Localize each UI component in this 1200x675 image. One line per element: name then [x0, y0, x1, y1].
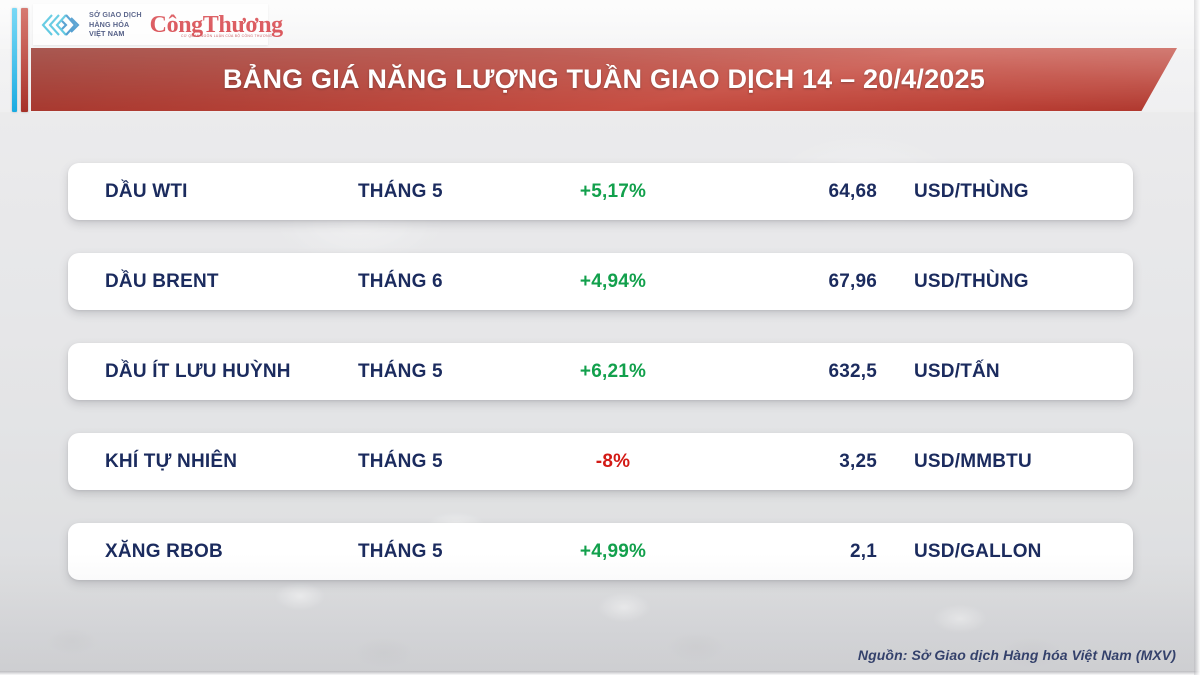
price-value: 67,96: [708, 271, 883, 293]
mxv-line-1: SỞ GIAO DỊCH: [89, 10, 142, 19]
price-unit: USD/THÙNG: [883, 271, 1133, 293]
contract-month: THÁNG 5: [358, 361, 518, 383]
price-table: DẦU WTI THÁNG 5 +5,17% 64,68 USD/THÙNG D…: [68, 163, 1133, 580]
price-change: +5,17%: [518, 181, 708, 203]
price-unit: USD/TẤN: [883, 361, 1133, 383]
price-value: 632,5: [708, 361, 883, 383]
price-unit: USD/GALLON: [883, 541, 1133, 563]
commodity-name: DẦU WTI: [68, 181, 358, 203]
right-edge: [1194, 0, 1200, 675]
table-row: DẦU BRENT THÁNG 6 +4,94% 67,96 USD/THÙNG: [68, 253, 1133, 310]
commodity-name: XĂNG RBOB: [68, 541, 358, 563]
commodity-name: KHÍ TỰ NHIÊN: [68, 451, 358, 473]
price-change: +4,94%: [518, 271, 708, 293]
accent-bar-cyan: [12, 8, 17, 112]
mxv-logo-icon: [38, 12, 84, 38]
congthuong-tagline: CƠ QUAN NGÔN LUẬN CỦA BỘ CÔNG THƯƠNG: [181, 34, 272, 38]
price-change: -8%: [518, 451, 708, 473]
page-title: BẢNG GIÁ NĂNG LƯỢNG TUẦN GIAO DỊCH 14 – …: [31, 48, 1177, 111]
price-change: +6,21%: [518, 361, 708, 383]
accent-bar-red: [21, 8, 28, 112]
price-value: 3,25: [708, 451, 883, 473]
logo-block: SỞ GIAO DỊCH HÀNG HÓA VIỆT NAM CôngThươn…: [33, 4, 268, 45]
contract-month: THÁNG 5: [358, 181, 518, 203]
price-unit: USD/THÙNG: [883, 181, 1133, 203]
table-row: XĂNG RBOB THÁNG 5 +4,99% 2,1 USD/GALLON: [68, 523, 1133, 580]
contract-month: THÁNG 5: [358, 451, 518, 473]
congthuong-logo: CôngThương: [150, 13, 283, 37]
mxv-line-2: HÀNG HÓA: [89, 20, 142, 29]
price-change: +4,99%: [518, 541, 708, 563]
price-unit: USD/MMBTU: [883, 451, 1133, 473]
infographic-canvas: SỞ GIAO DỊCH HÀNG HÓA VIỆT NAM CôngThươn…: [0, 0, 1200, 675]
table-row: DẦU ÍT LƯU HUỲNH THÁNG 5 +6,21% 632,5 US…: [68, 343, 1133, 400]
commodity-name: DẦU ÍT LƯU HUỲNH: [68, 361, 358, 383]
source-attribution: Nguồn: Sở Giao dịch Hàng hóa Việt Nam (M…: [858, 647, 1176, 663]
mxv-wordmark: SỞ GIAO DỊCH HÀNG HÓA VIỆT NAM: [89, 10, 142, 38]
bottom-edge: [0, 671, 1200, 675]
contract-month: THÁNG 6: [358, 271, 518, 293]
table-row: KHÍ TỰ NHIÊN THÁNG 5 -8% 3,25 USD/MMBTU: [68, 433, 1133, 490]
contract-month: THÁNG 5: [358, 541, 518, 563]
price-value: 64,68: [708, 181, 883, 203]
table-row: DẦU WTI THÁNG 5 +5,17% 64,68 USD/THÙNG: [68, 163, 1133, 220]
mxv-line-3: VIỆT NAM: [89, 29, 142, 38]
commodity-name: DẦU BRENT: [68, 271, 358, 293]
price-value: 2,1: [708, 541, 883, 563]
